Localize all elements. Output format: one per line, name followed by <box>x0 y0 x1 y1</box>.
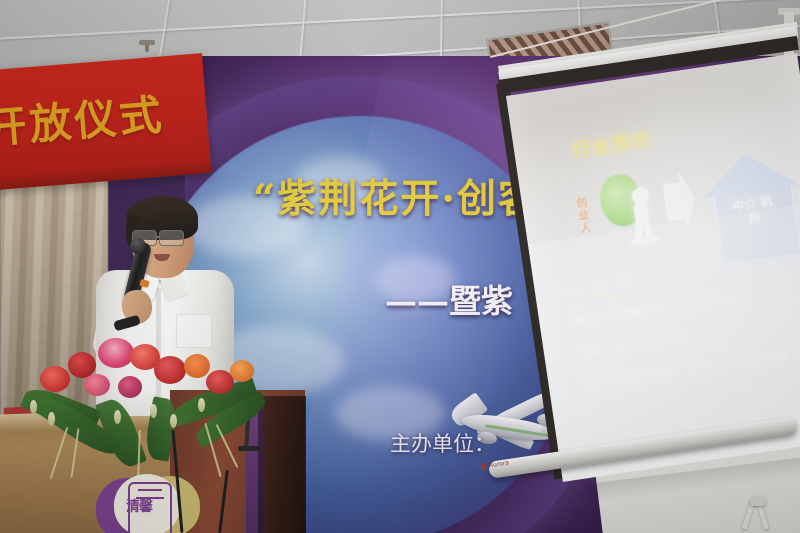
projection-screen: 行业现状 创业人 中介 机构 创业人有需要找中介机构办理业务 创业人去中介机构咨… <box>498 22 800 492</box>
flower-arrangement <box>22 330 274 480</box>
tripod-stand <box>736 500 788 533</box>
banner-title: “紫荆花开·创客 <box>253 180 539 219</box>
podium-emblem: 清馨 <box>96 474 200 533</box>
emblem-text: 清馨 <box>126 502 172 513</box>
conference-photo: “紫荆花开·创客 ——暨紫 主办单位： 开放仪式 <box>0 0 800 533</box>
banner-organizer-label: 主办单位： <box>390 428 495 458</box>
banner-subtitle: ——暨紫 <box>385 276 513 322</box>
